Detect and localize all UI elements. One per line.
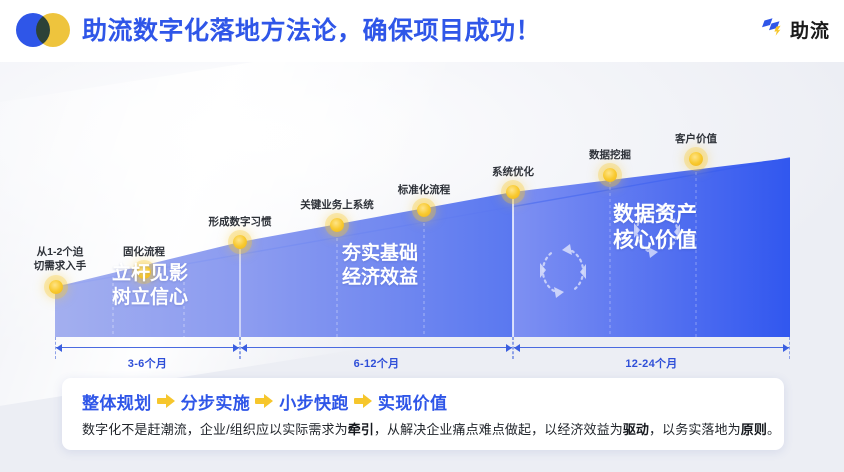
milestone-dot xyxy=(689,152,703,166)
paragraph-part: 数字化不是赶潮流，企业/组织应以实际需求为 xyxy=(82,422,348,437)
logo-circle-yellow xyxy=(36,13,70,47)
right-arrow-icon xyxy=(354,394,373,408)
timeline-axis: 3-6个月 6-12个月 12-24个月 xyxy=(0,337,844,373)
paragraph-part-bold: 驱动 xyxy=(623,422,649,437)
stage-caption: 数据资产 核心价值 xyxy=(613,202,697,255)
arrow-left-icon xyxy=(514,344,520,352)
segment-duration-label: 6-12个月 xyxy=(240,355,513,371)
two-overlapping-circles-logo xyxy=(16,13,72,47)
right-arrow-icon xyxy=(157,394,176,408)
timeline-segment: 12-24个月 xyxy=(513,337,790,373)
process-steps: 整体规划 分步实施 小步快跑 实现价值 xyxy=(82,389,768,413)
milestone-label: 固化流程 xyxy=(123,246,165,259)
process-step-label: 实现价值 xyxy=(378,389,448,414)
stage-caption-line: 经济效益 xyxy=(342,266,418,290)
stage-caption: 夯实基础 经济效益 xyxy=(342,242,418,290)
paragraph-part-bold: 牵引 xyxy=(348,422,374,437)
milestone-label: 标准化流程 xyxy=(398,184,451,197)
process-step-label: 分步实施 xyxy=(181,389,251,414)
page-title: 助流数字化落地方法论，确保项目成功！ xyxy=(82,11,541,47)
segment-line xyxy=(56,347,239,348)
segment-line xyxy=(514,347,789,348)
brand-lockup: 助流 xyxy=(759,14,830,45)
right-arrow-icon xyxy=(255,394,274,408)
paragraph-part: ，从解决企业痛点难点做起，以经济效益为 xyxy=(374,422,623,437)
milestone-dot xyxy=(417,203,431,217)
methodology-ramp-chart: 从1-2个迫 切需求入手 固化流程 形成数字习惯 关键业务上系统 标准化流程 系… xyxy=(0,62,844,362)
segment-line xyxy=(241,347,512,348)
summary-paragraph: 数字化不是赶潮流，企业/组织应以实际需求为牵引，从解决企业痛点难点做起，以经济效… xyxy=(82,419,768,438)
timeline-segment: 6-12个月 xyxy=(240,337,513,373)
arrow-left-icon xyxy=(56,344,62,352)
ramp-area: 从1-2个迫 切需求入手 固化流程 形成数字习惯 关键业务上系统 标准化流程 系… xyxy=(0,62,844,337)
brand-name: 助流 xyxy=(790,16,830,43)
slide-root: 助流数字化落地方法论，确保项目成功！ 助流 xyxy=(0,0,844,472)
stage-caption-line: 核心价值 xyxy=(613,228,697,254)
milestone-dot xyxy=(330,218,344,232)
milestone-dot xyxy=(506,185,520,199)
process-step-label: 整体规划 xyxy=(82,389,152,414)
stage-caption: 立杆见影 树立信心 xyxy=(112,262,188,310)
paragraph-part-bold: 原则 xyxy=(741,422,767,437)
milestone-dot xyxy=(603,168,617,182)
arrow-right-icon xyxy=(233,344,239,352)
segment-duration-label: 12-24个月 xyxy=(513,355,790,371)
paragraph-part: 。 xyxy=(767,422,780,437)
summary-card: 整体规划 分步实施 小步快跑 实现价值 数字化不是赶潮流，企业/组织应以实际需求… xyxy=(62,378,784,450)
arrow-right-icon xyxy=(506,344,512,352)
stage-caption-line: 树立信心 xyxy=(112,286,188,310)
paragraph-part: ，以务实落地为 xyxy=(649,422,741,437)
milestone-dot xyxy=(233,235,247,249)
lightning-bolt-icon xyxy=(759,14,785,45)
process-step-label: 小步快跑 xyxy=(279,389,349,414)
arrow-left-icon xyxy=(241,344,247,352)
milestone-dot xyxy=(49,280,63,294)
milestone-label: 形成数字习惯 xyxy=(209,216,272,229)
milestone-label: 关键业务上系统 xyxy=(300,199,374,212)
stage-caption-line: 立杆见影 xyxy=(112,262,188,286)
stage-caption-line: 数据资产 xyxy=(613,202,697,228)
circular-arrows-cycle-icon xyxy=(532,240,594,307)
arrow-right-icon xyxy=(783,344,789,352)
timeline-segment: 3-6个月 xyxy=(55,337,240,373)
milestone-label: 数据挖掘 xyxy=(589,149,631,162)
milestone-label: 客户价值 xyxy=(675,133,717,146)
milestone-label: 从1-2个迫 切需求入手 xyxy=(23,246,97,273)
milestone-label: 系统优化 xyxy=(492,166,534,179)
header-bar: 助流数字化落地方法论，确保项目成功！ 助流 xyxy=(0,0,844,62)
segment-duration-label: 3-6个月 xyxy=(55,355,240,371)
stage-caption-line: 夯实基础 xyxy=(342,242,418,266)
